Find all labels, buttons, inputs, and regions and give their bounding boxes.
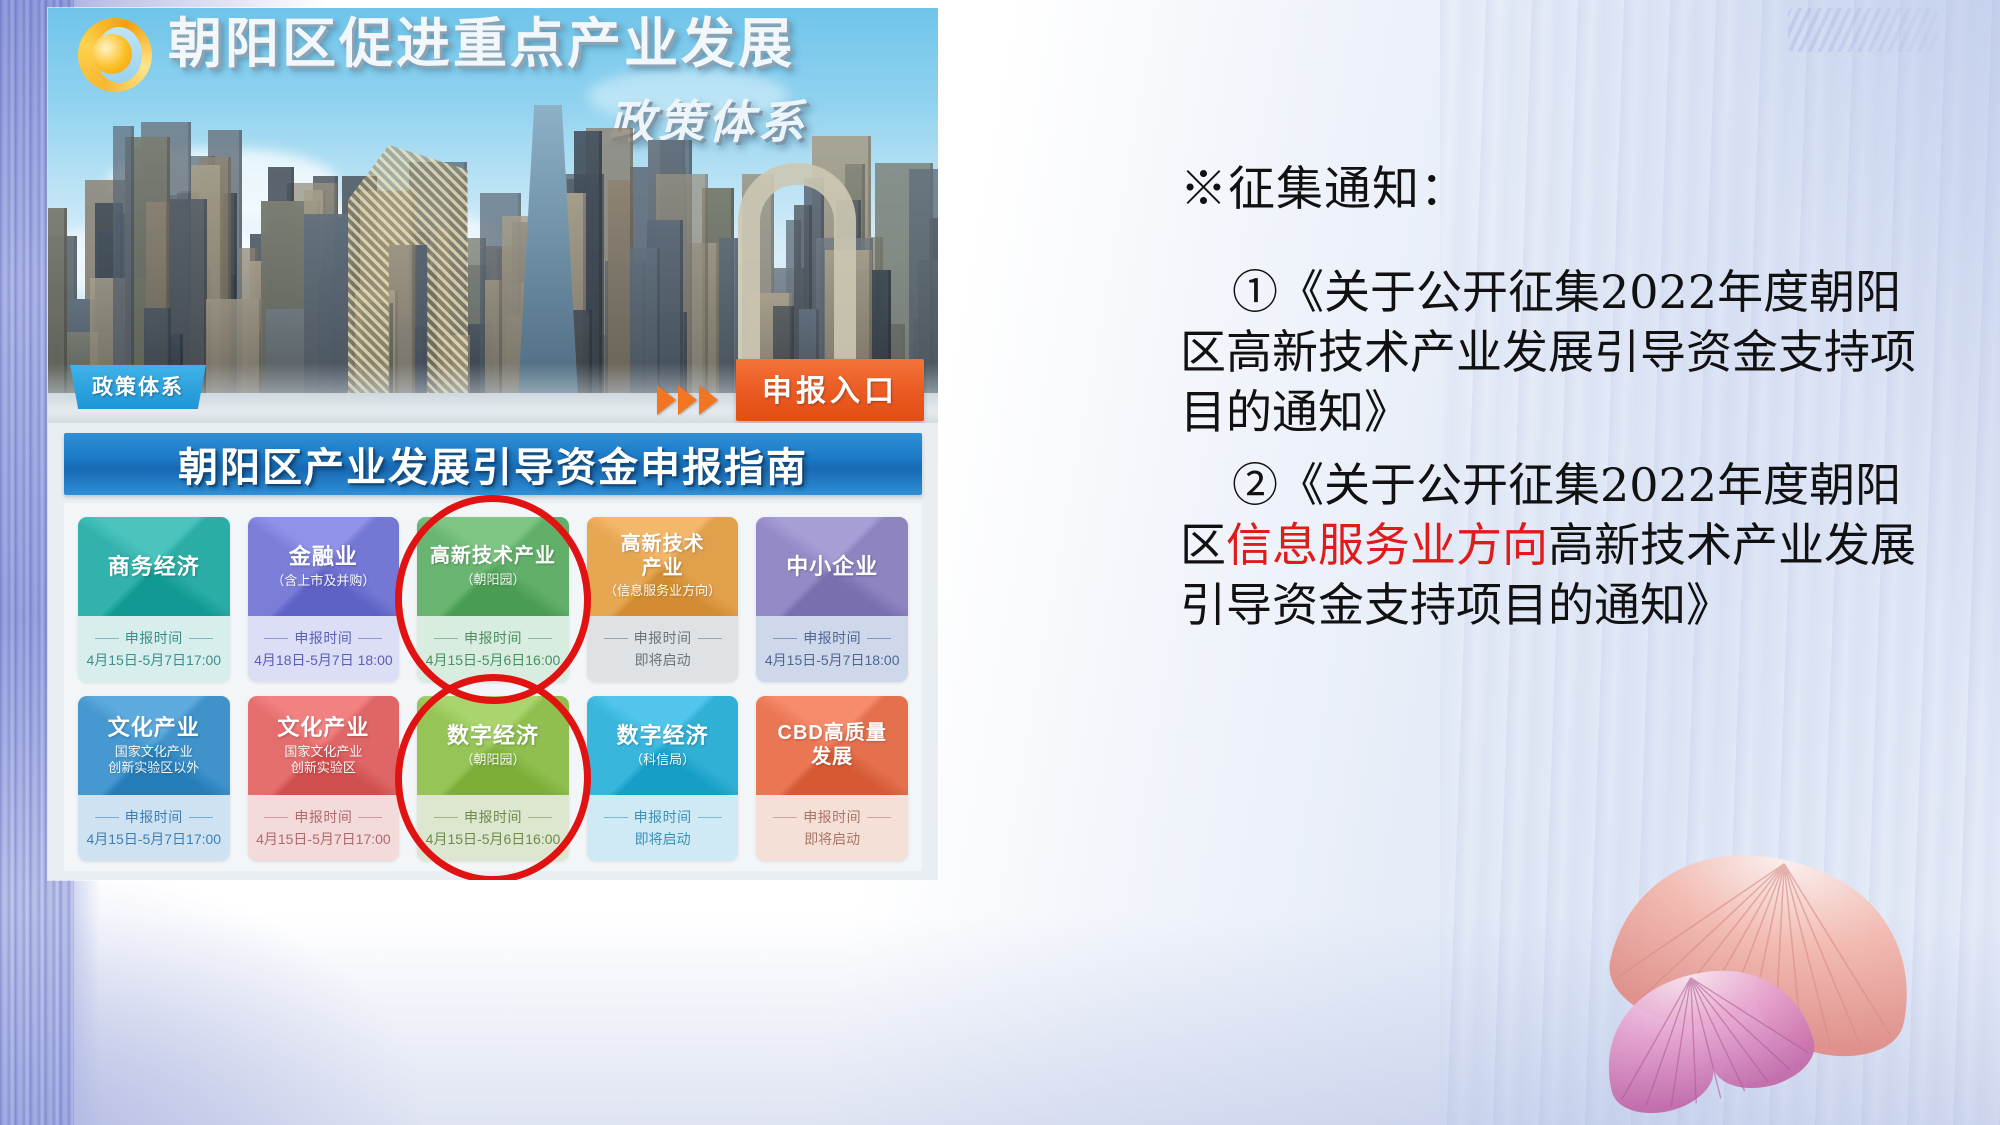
program-card-title: 数字经济 <box>447 723 539 749</box>
apply-time-label-row: 申报时间 <box>773 807 891 827</box>
rule-line <box>358 817 382 818</box>
program-card-footer: 申报时间即将启动 <box>587 795 739 861</box>
program-card-footer: 申报时间即将启动 <box>756 795 908 861</box>
hero-banner: 朝阳区促进重点产业发展 政策体系 政策体系 申报入口 <box>48 8 938 423</box>
program-card-title: 文化产业 <box>108 715 200 741</box>
rule-line <box>773 638 797 639</box>
rule-line <box>95 638 119 639</box>
program-card-header: 高新技术产业（信息服务业方向） <box>587 517 739 616</box>
program-card-header: CBD高质量发展 <box>756 696 908 795</box>
apply-time-label-row: 申报时间 <box>434 807 552 827</box>
rule-line <box>95 817 119 818</box>
notice-heading: ※征集通知： <box>1180 150 1920 219</box>
banner-title: 朝阳区促进重点产业发展 <box>168 16 795 71</box>
notice-text: ①《关于公开征集2022年度朝阳区高新技术产业发展引导资金支持项目的通知》 <box>1180 265 1916 439</box>
program-card[interactable]: 文化产业国家文化产业创新实验区以外申报时间4月15日-5月7日17:00 <box>78 696 230 861</box>
slide-canvas: 朝阳区促进重点产业发展 政策体系 政策体系 申报入口 朝阳区产业发展引导资金申报… <box>0 0 2000 1125</box>
apply-time-label-row: 申报时间 <box>434 628 552 648</box>
rule-line <box>604 817 628 818</box>
program-card[interactable]: 文化产业国家文化产业创新实验区申报时间4月15日-5月7日17:00 <box>248 696 400 861</box>
apply-time-label: 申报时间 <box>634 628 692 648</box>
rule-line <box>264 817 288 818</box>
rule-line <box>604 638 628 639</box>
program-card-footer: 申报时间4月15日-5月6日16:00 <box>417 616 569 682</box>
guide-header-title: 朝阳区产业发展引导资金申报指南 <box>178 435 808 493</box>
apply-time-value: 4月15日-5月7日17:00 <box>86 829 221 849</box>
program-card-header: 文化产业国家文化产业创新实验区以外 <box>78 696 230 795</box>
apply-time-label-row: 申报时间 <box>95 807 213 827</box>
apply-time-label: 申报时间 <box>464 807 522 827</box>
program-card-footer: 申报时间即将启动 <box>587 616 739 682</box>
apply-time-value: 即将启动 <box>804 829 860 849</box>
program-card[interactable]: 中小企业申报时间4月15日-5月7日18:00 <box>756 517 908 682</box>
rule-line <box>773 817 797 818</box>
apply-time-label-row: 申报时间 <box>95 628 213 648</box>
program-card-footer: 申报时间4月18日-5月7日 18:00 <box>248 616 400 682</box>
program-card[interactable]: CBD高质量发展申报时间即将启动 <box>756 696 908 861</box>
program-card-footer: 申报时间4月15日-5月7日17:00 <box>248 795 400 861</box>
apply-time-value: 4月15日-5月7日18:00 <box>765 650 900 670</box>
notice-text-highlight: 信息服务业方向 <box>1226 518 1548 572</box>
program-card-title: 商务经济 <box>108 554 200 580</box>
apply-time-label: 申报时间 <box>125 807 183 827</box>
program-card[interactable]: 金融业（含上市及并购）申报时间4月18日-5月7日 18:00 <box>248 517 400 682</box>
apply-time-value: 4月15日-5月7日17:00 <box>256 829 391 849</box>
apply-time-label-row: 申报时间 <box>604 807 722 827</box>
notice-text-column: ※征集通知： ①《关于公开征集2022年度朝阳区高新技术产业发展引导资金支持项目… <box>1180 150 1920 650</box>
program-card-header: 高新技术产业（朝阳园） <box>417 517 569 616</box>
apply-time-value: 4月15日-5月6日16:00 <box>426 829 561 849</box>
program-card-footer: 申报时间4月15日-5月7日18:00 <box>756 616 908 682</box>
rule-line <box>698 817 722 818</box>
program-card-title: 文化产业 <box>277 715 369 741</box>
program-card-header: 中小企业 <box>756 517 908 616</box>
rule-line <box>189 638 213 639</box>
program-card-subtitle: （朝阳园） <box>460 752 525 768</box>
apply-time-label: 申报时间 <box>803 628 861 648</box>
program-card-subtitle: （朝阳园） <box>460 572 525 588</box>
apply-time-value: 4月15日-5月6日16:00 <box>426 650 561 670</box>
notice-item: ②《关于公开征集2022年度朝阳区信息服务业方向高新技术产业发展引导资金支持项目… <box>1180 456 1920 635</box>
rule-line <box>867 638 891 639</box>
apply-time-label: 申报时间 <box>294 807 352 827</box>
program-card-title: 高新技术产业 <box>430 545 556 569</box>
program-card[interactable]: 商务经济申报时间4月15日-5月7日17:00 <box>78 517 230 682</box>
program-card-title: CBD高质量发展 <box>778 722 887 769</box>
program-card-subtitle: （含上市及并购） <box>271 573 375 589</box>
watermark-logo <box>1788 8 1938 52</box>
rule-line <box>698 638 722 639</box>
triple-chevron-right-icon <box>657 385 718 415</box>
apply-time-label-row: 申报时间 <box>264 807 382 827</box>
apply-time-label: 申报时间 <box>294 628 352 648</box>
program-card-header: 数字经济（朝阳园） <box>417 696 569 795</box>
program-card-footer: 申报时间4月15日-5月6日16:00 <box>417 795 569 861</box>
program-card-title: 中小企业 <box>786 554 878 580</box>
program-card-title: 金融业 <box>289 544 358 570</box>
notice-item: ①《关于公开征集2022年度朝阳区高新技术产业发展引导资金支持项目的通知》 <box>1180 263 1920 442</box>
program-card-header: 数字经济（科信局） <box>587 696 739 795</box>
city-skyline-image <box>48 105 938 395</box>
program-card-subtitle: 国家文化产业创新实验区 <box>284 744 362 777</box>
rule-line <box>867 817 891 818</box>
apply-entry-button[interactable]: 申报入口 <box>736 359 924 421</box>
notice-items: ①《关于公开征集2022年度朝阳区高新技术产业发展引导资金支持项目的通知》②《关… <box>1180 263 1920 636</box>
program-card-title: 数字经济 <box>617 723 709 749</box>
cards-panel: 商务经济申报时间4月15日-5月7日17:00金融业（含上市及并购）申报时间4月… <box>64 503 922 871</box>
program-card-title: 高新技术产业 <box>621 533 705 580</box>
cards-grid: 商务经济申报时间4月15日-5月7日17:00金融业（含上市及并购）申报时间4月… <box>78 517 908 861</box>
apply-time-label: 申报时间 <box>634 807 692 827</box>
apply-time-value: 即将启动 <box>635 829 691 849</box>
apply-time-value: 即将启动 <box>635 650 691 670</box>
apply-time-label: 申报时间 <box>803 807 861 827</box>
program-card-subtitle: 国家文化产业创新实验区以外 <box>108 744 199 777</box>
building-shape <box>113 126 134 395</box>
program-card[interactable]: 数字经济（朝阳园）申报时间4月15日-5月6日16:00 <box>417 696 569 861</box>
rule-line <box>434 817 458 818</box>
program-card-subtitle: （信息服务业方向） <box>604 583 721 599</box>
program-card-footer: 申报时间4月15日-5月7日17:00 <box>78 795 230 861</box>
apply-time-label-row: 申报时间 <box>604 628 722 648</box>
apply-time-label: 申报时间 <box>464 628 522 648</box>
rule-line <box>434 638 458 639</box>
apply-time-value: 4月15日-5月7日17:00 <box>86 650 221 670</box>
rule-line <box>528 817 552 818</box>
program-card-footer: 申报时间4月15日-5月7日17:00 <box>78 616 230 682</box>
program-card[interactable]: 数字经济（科信局）申报时间即将启动 <box>587 696 739 861</box>
program-card-header: 商务经济 <box>78 517 230 616</box>
rule-line <box>189 817 213 818</box>
sun-crescent-logo-icon <box>78 18 152 92</box>
apply-time-label-row: 申报时间 <box>264 628 382 648</box>
program-card-header: 金融业（含上市及并购） <box>248 517 400 616</box>
apply-time-label-row: 申报时间 <box>773 628 891 648</box>
apply-time-value: 4月18日-5月7日 18:00 <box>254 650 393 670</box>
apply-time-label: 申报时间 <box>125 628 183 648</box>
rule-line <box>358 638 382 639</box>
guide-header-bar: 朝阳区产业发展引导资金申报指南 <box>64 433 922 495</box>
program-card[interactable]: 高新技术产业（朝阳园）申报时间4月15日-5月6日16:00 <box>417 517 569 682</box>
seashell-decoration <box>1570 825 2000 1125</box>
webpage-screenshot: 朝阳区促进重点产业发展 政策体系 政策体系 申报入口 朝阳区产业发展引导资金申报… <box>48 8 938 880</box>
landmark-tower <box>518 105 578 395</box>
rule-line <box>528 638 552 639</box>
policy-system-tag[interactable]: 政策体系 <box>70 365 206 409</box>
rule-line <box>264 638 288 639</box>
program-card[interactable]: 高新技术产业（信息服务业方向）申报时间即将启动 <box>587 517 739 682</box>
program-card-subtitle: （科信局） <box>630 752 695 768</box>
program-card-header: 文化产业国家文化产业创新实验区 <box>248 696 400 795</box>
